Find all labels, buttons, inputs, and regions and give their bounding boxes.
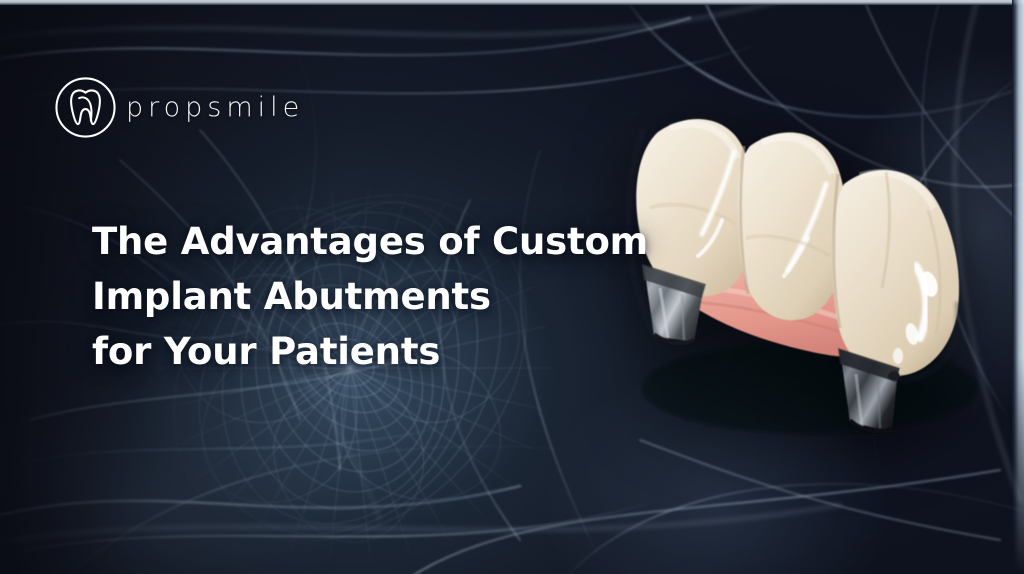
- headline-line-2: Implant Abutments: [92, 269, 648, 324]
- right-light-border: [1012, 0, 1024, 574]
- headline-line-3: for Your Patients: [92, 324, 648, 379]
- tooth-in-circle-icon: [54, 76, 117, 139]
- headline-line-1: The Advantages of Custom: [92, 214, 648, 269]
- top-light-border: [0, 0, 1024, 5]
- dental-implant-bridge-photo: [598, 88, 1018, 448]
- page-title: The Advantages of Custom Implant Abutmen…: [92, 214, 648, 379]
- brand-logo[interactable]: propsmile: [54, 76, 304, 139]
- brand-wordmark: propsmile: [126, 94, 304, 121]
- hero-banner: propsmile The Advantages of Custom Impla…: [0, 0, 1024, 574]
